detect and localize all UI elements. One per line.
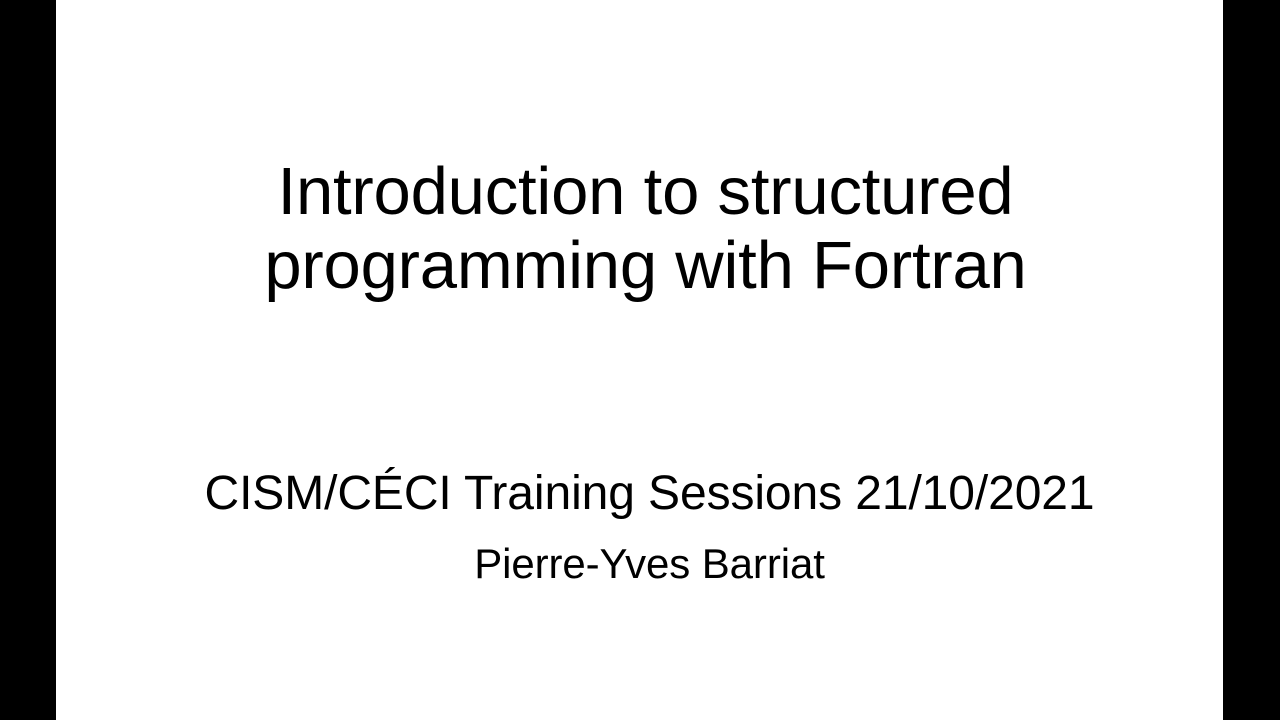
presentation-viewer: Introduction to structured programming w… bbox=[0, 0, 1280, 720]
author-name: Pierre-Yves Barriat bbox=[76, 522, 1223, 588]
title-slide: Introduction to structured programming w… bbox=[56, 0, 1223, 720]
byline-block: CISM/CÉCI Training Sessions 21/10/2021 P… bbox=[56, 466, 1223, 588]
page-title: Introduction to structured programming w… bbox=[68, 155, 1223, 303]
letterbox-bar-right bbox=[1223, 0, 1280, 720]
letterbox-bar-left bbox=[0, 0, 56, 720]
session-subtitle: CISM/CÉCI Training Sessions 21/10/2021 bbox=[76, 466, 1223, 522]
title-block: Introduction to structured programming w… bbox=[56, 155, 1223, 303]
